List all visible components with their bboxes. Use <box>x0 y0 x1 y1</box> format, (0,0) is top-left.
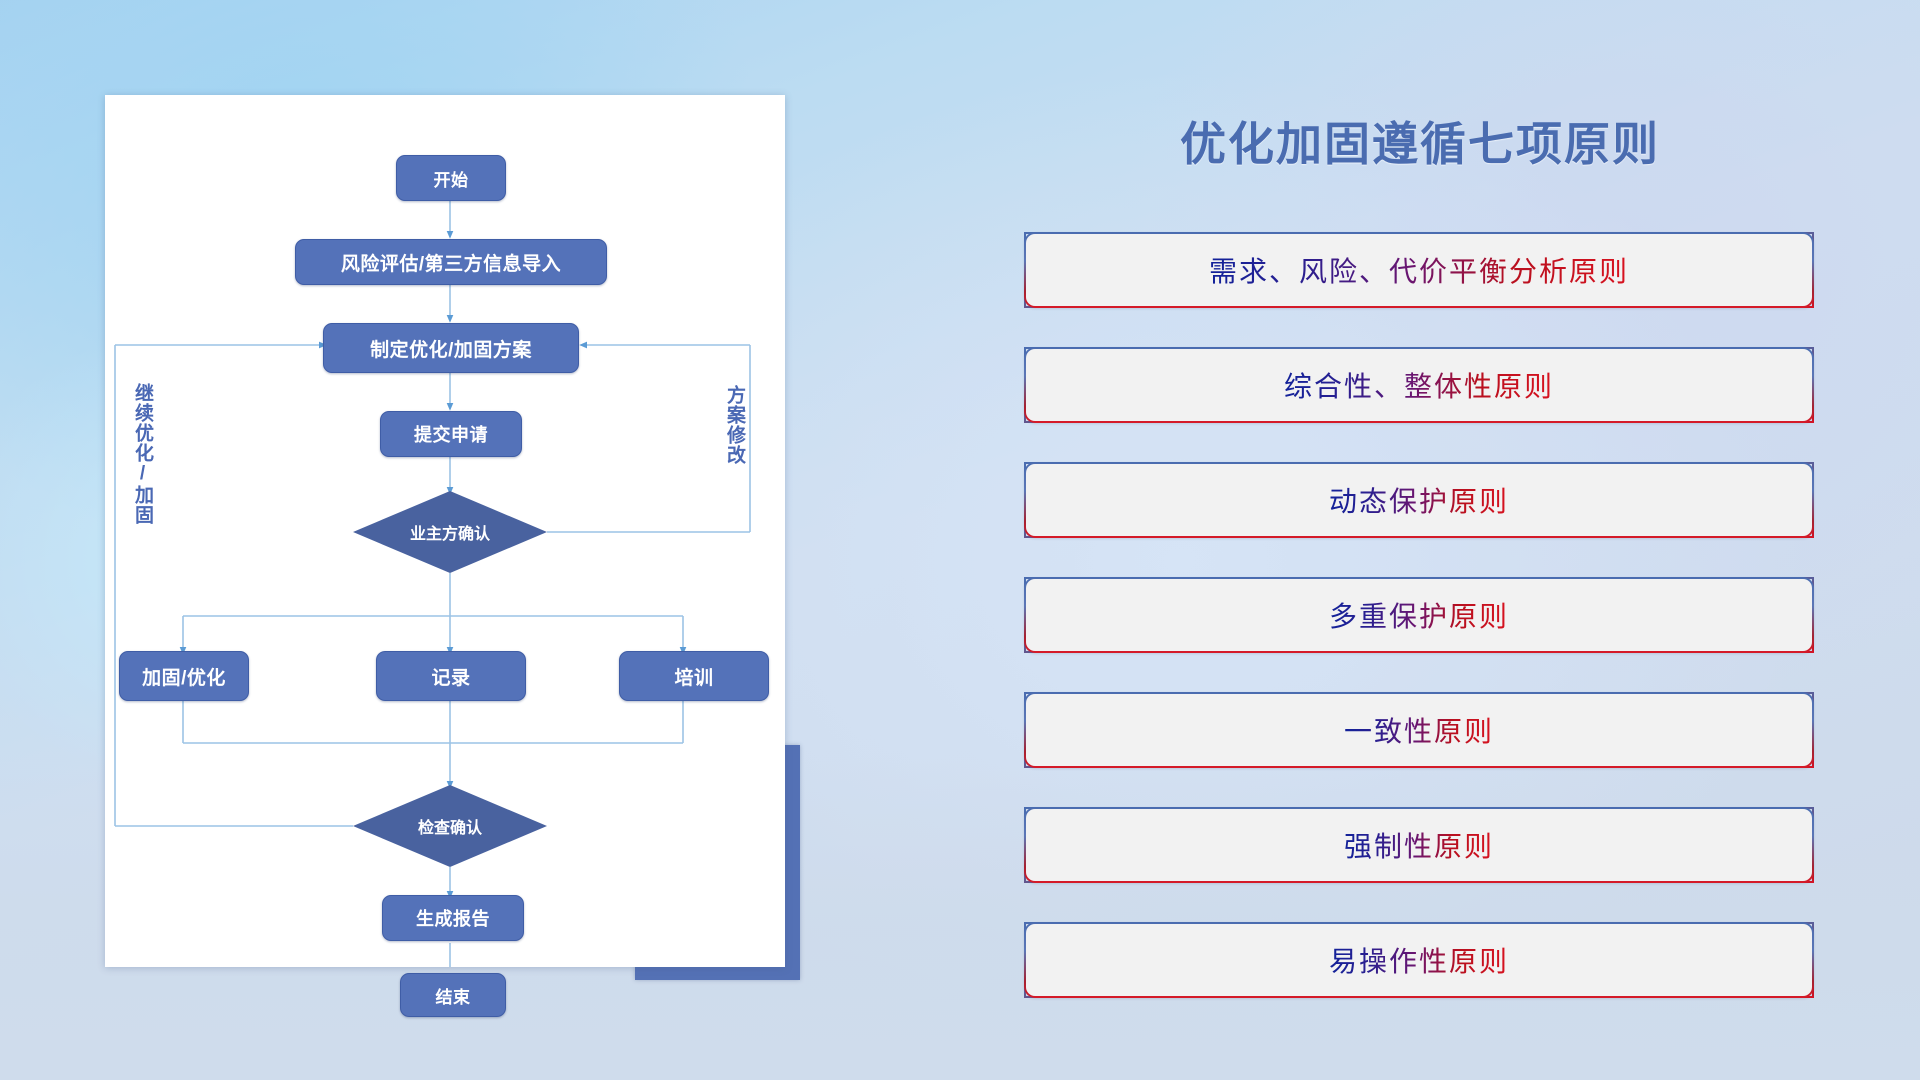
flow-node-record[interactable]: 记录 <box>376 651 526 701</box>
principle-card-label: 易操作性原则 <box>1329 940 1509 980</box>
flow-node-plan-label: 制定优化/加固方案 <box>370 335 532 362</box>
principle-card[interactable]: 需求、风险、代价平衡分析原则 <box>1024 232 1814 308</box>
flow-node-start-label: 开始 <box>434 166 469 191</box>
flow-node-submit-application[interactable]: 提交申请 <box>380 411 522 457</box>
flow-node-end[interactable]: 结束 <box>400 973 506 1017</box>
principle-card[interactable]: 综合性、整体性原则 <box>1024 347 1814 423</box>
flow-node-start[interactable]: 开始 <box>396 155 506 201</box>
principle-card[interactable]: 多重保护原则 <box>1024 577 1814 653</box>
principle-card-label: 需求、风险、代价平衡分析原则 <box>1209 250 1629 290</box>
flow-node-training[interactable]: 培训 <box>619 651 769 701</box>
flow-decision-inspection-label: 检查确认 <box>418 814 482 838</box>
flow-node-record-label: 记录 <box>431 663 470 690</box>
principle-card[interactable]: 易操作性原则 <box>1024 922 1814 998</box>
flow-decision-owner-confirm[interactable]: 业主方确认 <box>353 491 547 573</box>
flow-node-end-label: 结束 <box>436 983 471 1008</box>
flow-edge-label-continue-optimize: 继续优化/加固 <box>133 383 152 525</box>
principle-card-label: 多重保护原则 <box>1329 595 1509 635</box>
principle-card[interactable]: 强制性原则 <box>1024 807 1814 883</box>
principle-card-label: 综合性、整体性原则 <box>1284 365 1554 405</box>
flow-edge-label-plan-revision: 方案修改 <box>725 385 744 465</box>
principle-card-label: 强制性原则 <box>1344 825 1494 865</box>
principles-card-list: 需求、风险、代价平衡分析原则 综合性、整体性原则 动态保护原则 多重保护原则 一… <box>1024 232 1814 1037</box>
principle-card[interactable]: 一致性原则 <box>1024 692 1814 768</box>
flow-decision-inspection[interactable]: 检查确认 <box>353 785 547 867</box>
flow-node-submit-application-label: 提交申请 <box>414 421 488 447</box>
flow-node-risk-assessment-label: 风险评估/第三方信息导入 <box>341 249 561 276</box>
principles-title: 优化加固遵循七项原则 <box>1020 108 1820 174</box>
flow-node-plan[interactable]: 制定优化/加固方案 <box>323 323 579 373</box>
principle-card-label: 动态保护原则 <box>1329 480 1509 520</box>
flow-node-risk-assessment[interactable]: 风险评估/第三方信息导入 <box>295 239 607 285</box>
flow-node-reinforce[interactable]: 加固/优化 <box>119 651 249 701</box>
flow-node-training-label: 培训 <box>674 663 713 690</box>
flow-node-reinforce-label: 加固/优化 <box>142 663 226 690</box>
flow-decision-owner-confirm-label: 业主方确认 <box>410 520 490 544</box>
flow-node-generate-report[interactable]: 生成报告 <box>382 895 524 941</box>
flowchart-panel: 开始 风险评估/第三方信息导入 制定优化/加固方案 提交申请 业主方确认 加固/… <box>105 95 785 967</box>
principle-card-label: 一致性原则 <box>1344 710 1494 750</box>
principle-card[interactable]: 动态保护原则 <box>1024 462 1814 538</box>
flow-node-generate-report-label: 生成报告 <box>416 905 490 931</box>
